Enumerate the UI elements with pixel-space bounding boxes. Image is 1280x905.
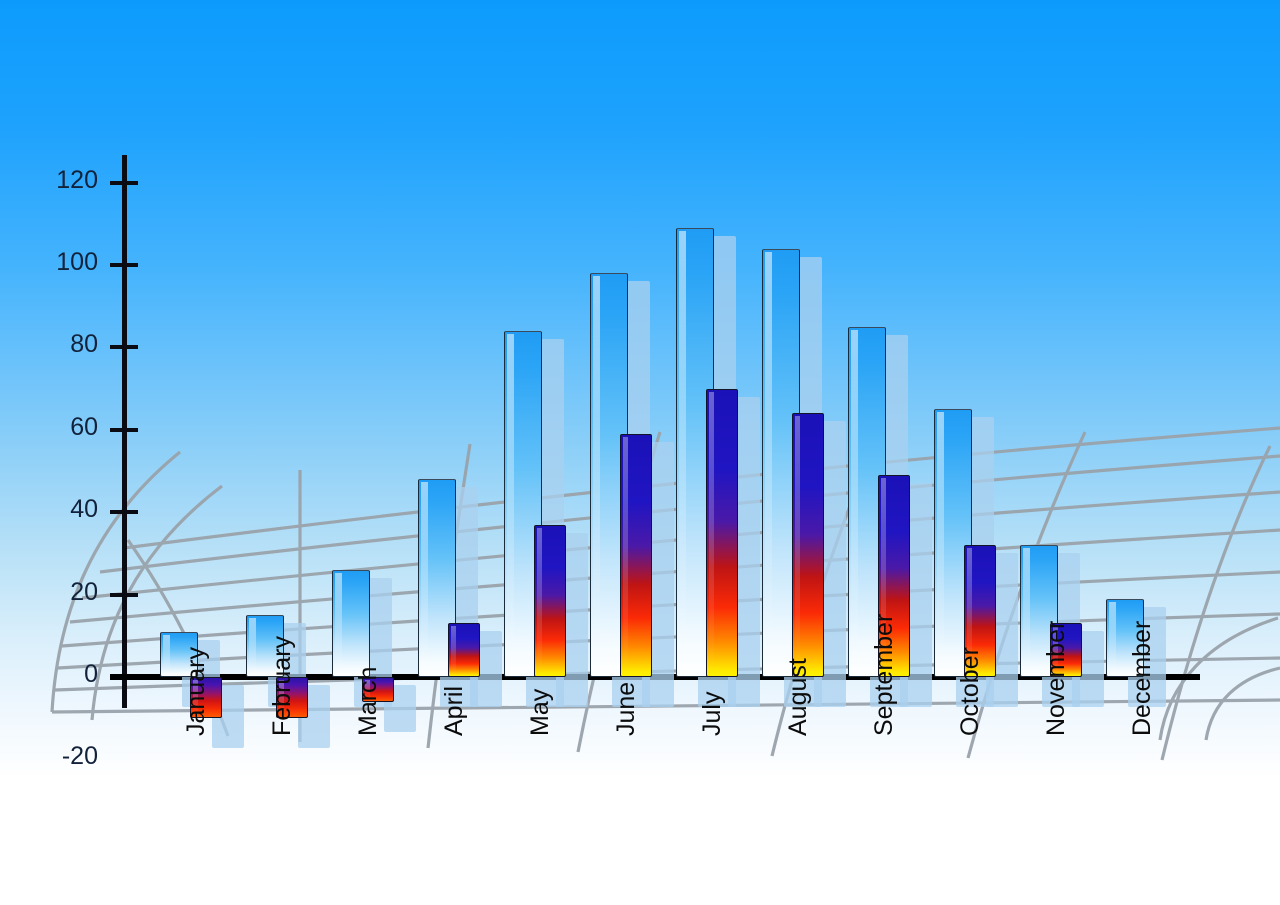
bar-highlight bbox=[1023, 548, 1030, 674]
bar-highlight bbox=[765, 252, 772, 674]
x-axis-label-june: June bbox=[612, 682, 641, 736]
bar-blue-march[interactable] bbox=[332, 570, 370, 677]
y-axis-tick-label: 60 bbox=[28, 413, 98, 442]
bar-highlight bbox=[709, 392, 714, 674]
y-axis-tick bbox=[110, 593, 138, 597]
bar-highlight bbox=[335, 573, 342, 674]
y-axis-tick bbox=[110, 345, 138, 349]
bar-highlight bbox=[537, 528, 542, 674]
bar-highlight bbox=[451, 626, 456, 674]
y-axis-tick-label: 100 bbox=[28, 248, 98, 277]
bar-highlight bbox=[937, 412, 944, 674]
x-axis-label-september: September bbox=[870, 614, 899, 736]
x-axis-label-december: December bbox=[1128, 621, 1157, 736]
bar-hot-august[interactable] bbox=[792, 413, 824, 677]
plot-area: -20020406080100120 JanuaryFebruaryMarchA… bbox=[0, 0, 1280, 905]
bar-highlight bbox=[795, 416, 800, 674]
bar-hot-june[interactable] bbox=[620, 434, 652, 677]
bar-highlight bbox=[593, 276, 600, 674]
bar-highlight bbox=[851, 330, 858, 674]
y-axis-tick bbox=[110, 181, 138, 185]
x-axis-label-january: January bbox=[182, 647, 211, 736]
y-axis-tick bbox=[110, 263, 138, 267]
bar-hot-april[interactable] bbox=[448, 623, 480, 677]
y-axis-tick-label: 40 bbox=[28, 495, 98, 524]
x-axis-label-march: March bbox=[354, 667, 383, 736]
x-axis-label-august: August bbox=[784, 658, 813, 736]
y-axis-tick bbox=[110, 428, 138, 432]
bar-highlight bbox=[249, 618, 256, 674]
chart-canvas: -20020406080100120 JanuaryFebruaryMarchA… bbox=[0, 0, 1280, 905]
x-axis-label-july: July bbox=[698, 692, 727, 736]
x-axis-label-november: November bbox=[1042, 621, 1071, 736]
bar-highlight bbox=[421, 482, 428, 674]
y-axis-tick bbox=[110, 510, 138, 514]
x-axis-label-october: October bbox=[956, 647, 985, 736]
y-axis-tick-label: -20 bbox=[28, 742, 98, 771]
bar-highlight bbox=[1109, 602, 1116, 674]
bar-highlight bbox=[623, 437, 628, 674]
x-axis-label-may: May bbox=[526, 689, 555, 736]
bar-highlight bbox=[163, 635, 170, 674]
bar-hot-july[interactable] bbox=[706, 389, 738, 677]
x-axis-label-april: April bbox=[440, 686, 469, 736]
y-axis-tick-label: 120 bbox=[28, 166, 98, 195]
y-axis-tick-label: 20 bbox=[28, 578, 98, 607]
y-axis-tick-label: 0 bbox=[28, 660, 98, 689]
bar-highlight bbox=[679, 231, 686, 674]
bar-hot-may[interactable] bbox=[534, 525, 566, 677]
y-axis-tick-label: 80 bbox=[28, 330, 98, 359]
bar-highlight bbox=[507, 334, 514, 674]
x-axis-label-february: February bbox=[268, 636, 297, 736]
